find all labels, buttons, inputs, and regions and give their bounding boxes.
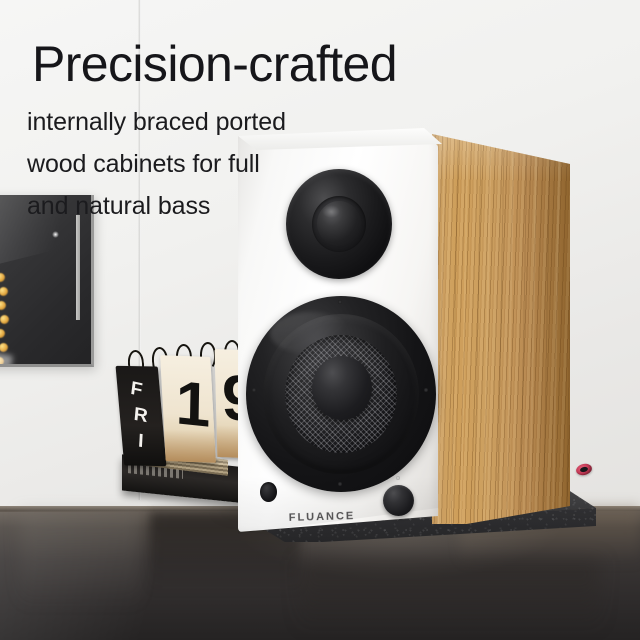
woofer-screws	[246, 296, 436, 492]
ir-sensor-port[interactable]	[260, 482, 277, 502]
amber-light-string	[0, 273, 16, 367]
brand-logo: FLUANCE	[285, 509, 359, 524]
subheadline-line-3: and natural bass	[27, 194, 210, 219]
headline: Precision-crafted	[32, 39, 397, 89]
subheadline-line-1: internally braced ported	[27, 110, 286, 135]
marketing-copy: Precision-crafted internally braced port…	[0, 0, 640, 240]
product-photo-scene: F R I 1 9	[0, 0, 640, 640]
subheadline-line-2: wood cabinets for full	[27, 152, 260, 177]
calendar-card-digit-0: 1	[160, 355, 216, 463]
calendar-card-weekday: F R I	[116, 366, 167, 466]
desk-reflection-speaker	[300, 560, 600, 640]
desk-reflection-left	[20, 512, 140, 632]
calendar-digit-0: 1	[175, 373, 211, 438]
power-led-icon	[396, 476, 400, 480]
volume-knob[interactable]	[383, 485, 414, 516]
brand-logo-text: FLUANCE	[289, 510, 356, 524]
calendar-weekday-char-2: I	[138, 432, 144, 452]
woofer-driver	[246, 296, 436, 492]
calendar-weekday-char-0: F	[129, 379, 143, 400]
calendar-weekday-char-1: R	[133, 405, 148, 426]
